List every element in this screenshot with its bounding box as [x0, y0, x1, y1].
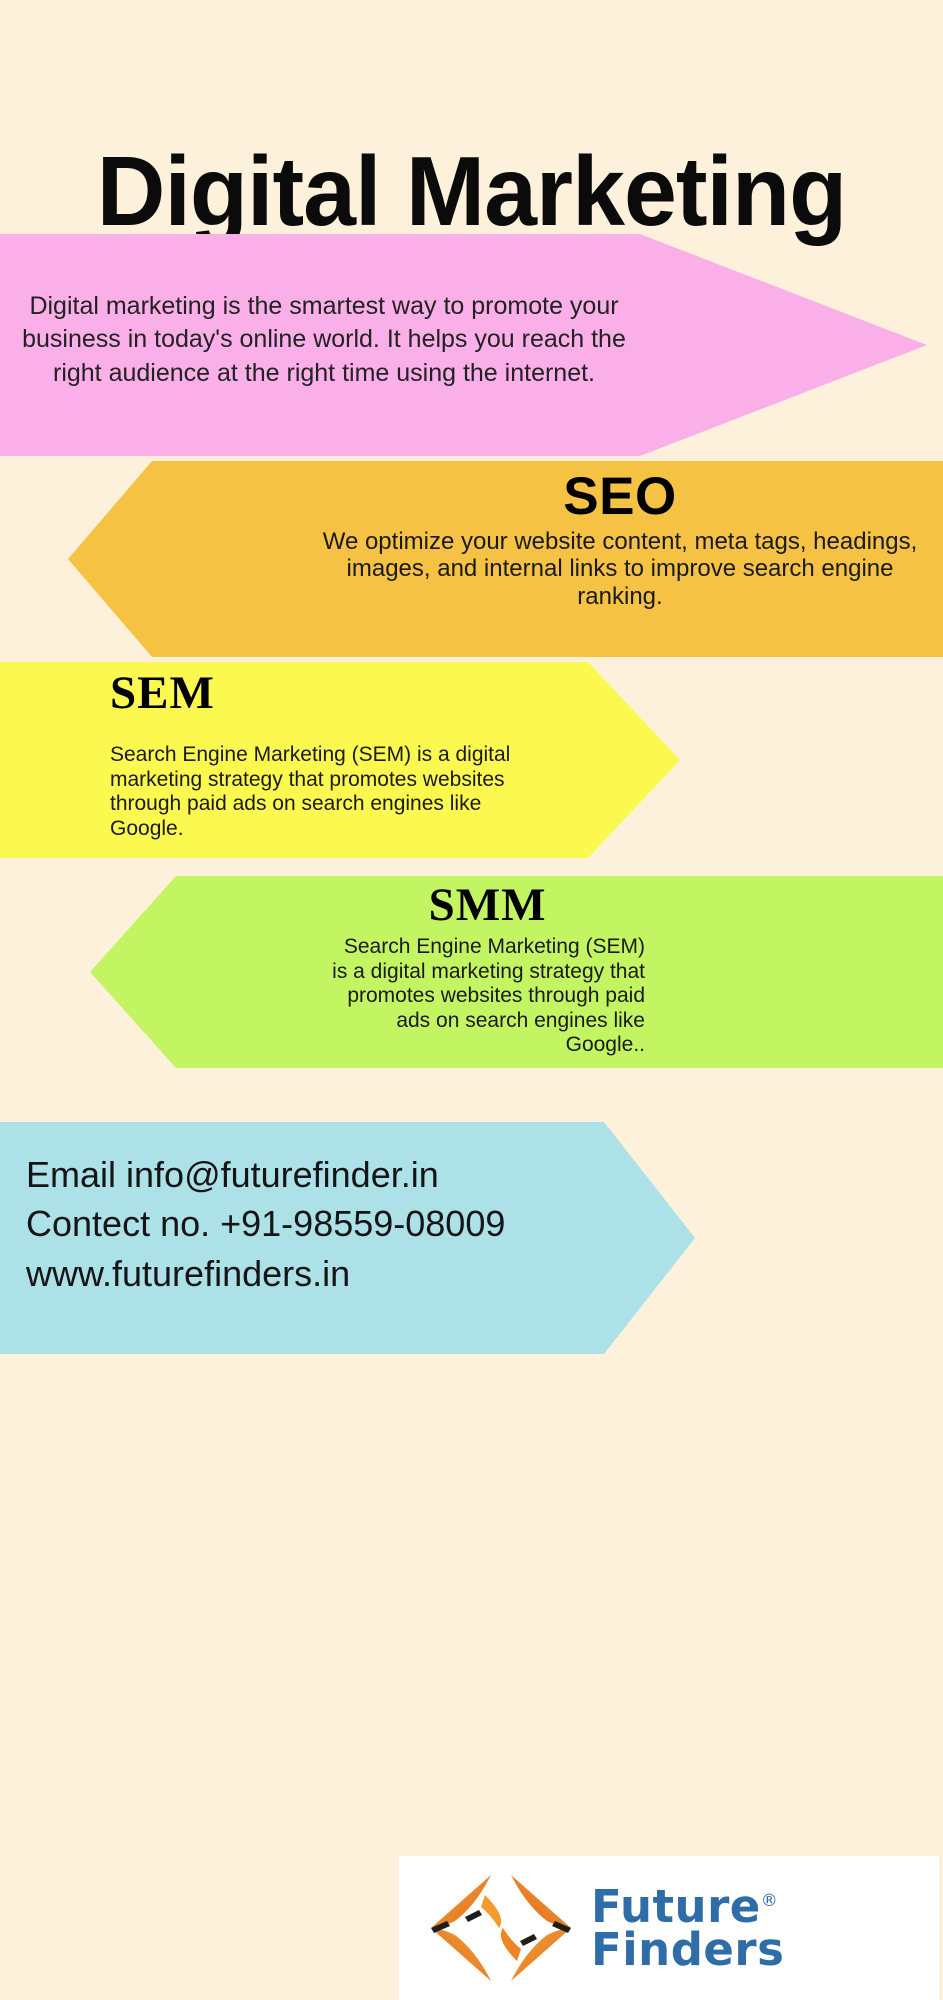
smm-banner-heading: SMM [330, 882, 645, 929]
future-finders-diamond-icon [421, 1865, 581, 1991]
registered-trademark-icon: ® [761, 1891, 779, 1911]
seo-banner-body: We optimize your website content, meta t… [320, 528, 920, 610]
logo-name-line-1: Future® [591, 1885, 784, 1928]
logo-name-line-2: Finders [591, 1928, 784, 1971]
smm-banner-content: SMM Search Engine Marketing (SEM) is a d… [330, 882, 645, 1058]
intro-banner-body: Digital marketing is the smartest way to… [14, 290, 634, 390]
seo-banner-heading: SEO [320, 470, 920, 523]
company-logo: Future® Finders [399, 1856, 939, 2000]
sem-banner-content: SEM Search Engine Marketing (SEM) is a d… [110, 670, 540, 841]
contact-phone[interactable]: Contect no. +91-98559-08009 [26, 1199, 586, 1248]
contact-banner: Email info@futurefinder.in Contect no. +… [0, 1122, 943, 1354]
infographic-canvas: Digital Marketing Digital marketing is t… [0, 0, 943, 2000]
contact-website[interactable]: www.futurefinders.in [26, 1249, 586, 1298]
contact-email[interactable]: Email info@futurefinder.in [26, 1150, 586, 1199]
seo-banner-content: SEO We optimize your website content, me… [320, 470, 920, 610]
smm-banner-body: Search Engine Marketing (SEM) is a digit… [330, 935, 645, 1058]
seo-banner: SEO We optimize your website content, me… [0, 461, 943, 657]
sem-banner: SEM Search Engine Marketing (SEM) is a d… [0, 662, 943, 858]
logo-wordmark: Future® Finders [591, 1885, 784, 1971]
contact-banner-content: Email info@futurefinder.in Contect no. +… [26, 1150, 586, 1298]
sem-banner-heading: SEM [110, 670, 540, 717]
smm-banner: SMM Search Engine Marketing (SEM) is a d… [0, 876, 943, 1068]
intro-banner: Digital marketing is the smartest way to… [0, 234, 943, 456]
intro-banner-content: Digital marketing is the smartest way to… [14, 290, 634, 390]
page-title: Digital Marketing [14, 140, 929, 243]
sem-banner-body: Search Engine Marketing (SEM) is a digit… [110, 743, 540, 841]
